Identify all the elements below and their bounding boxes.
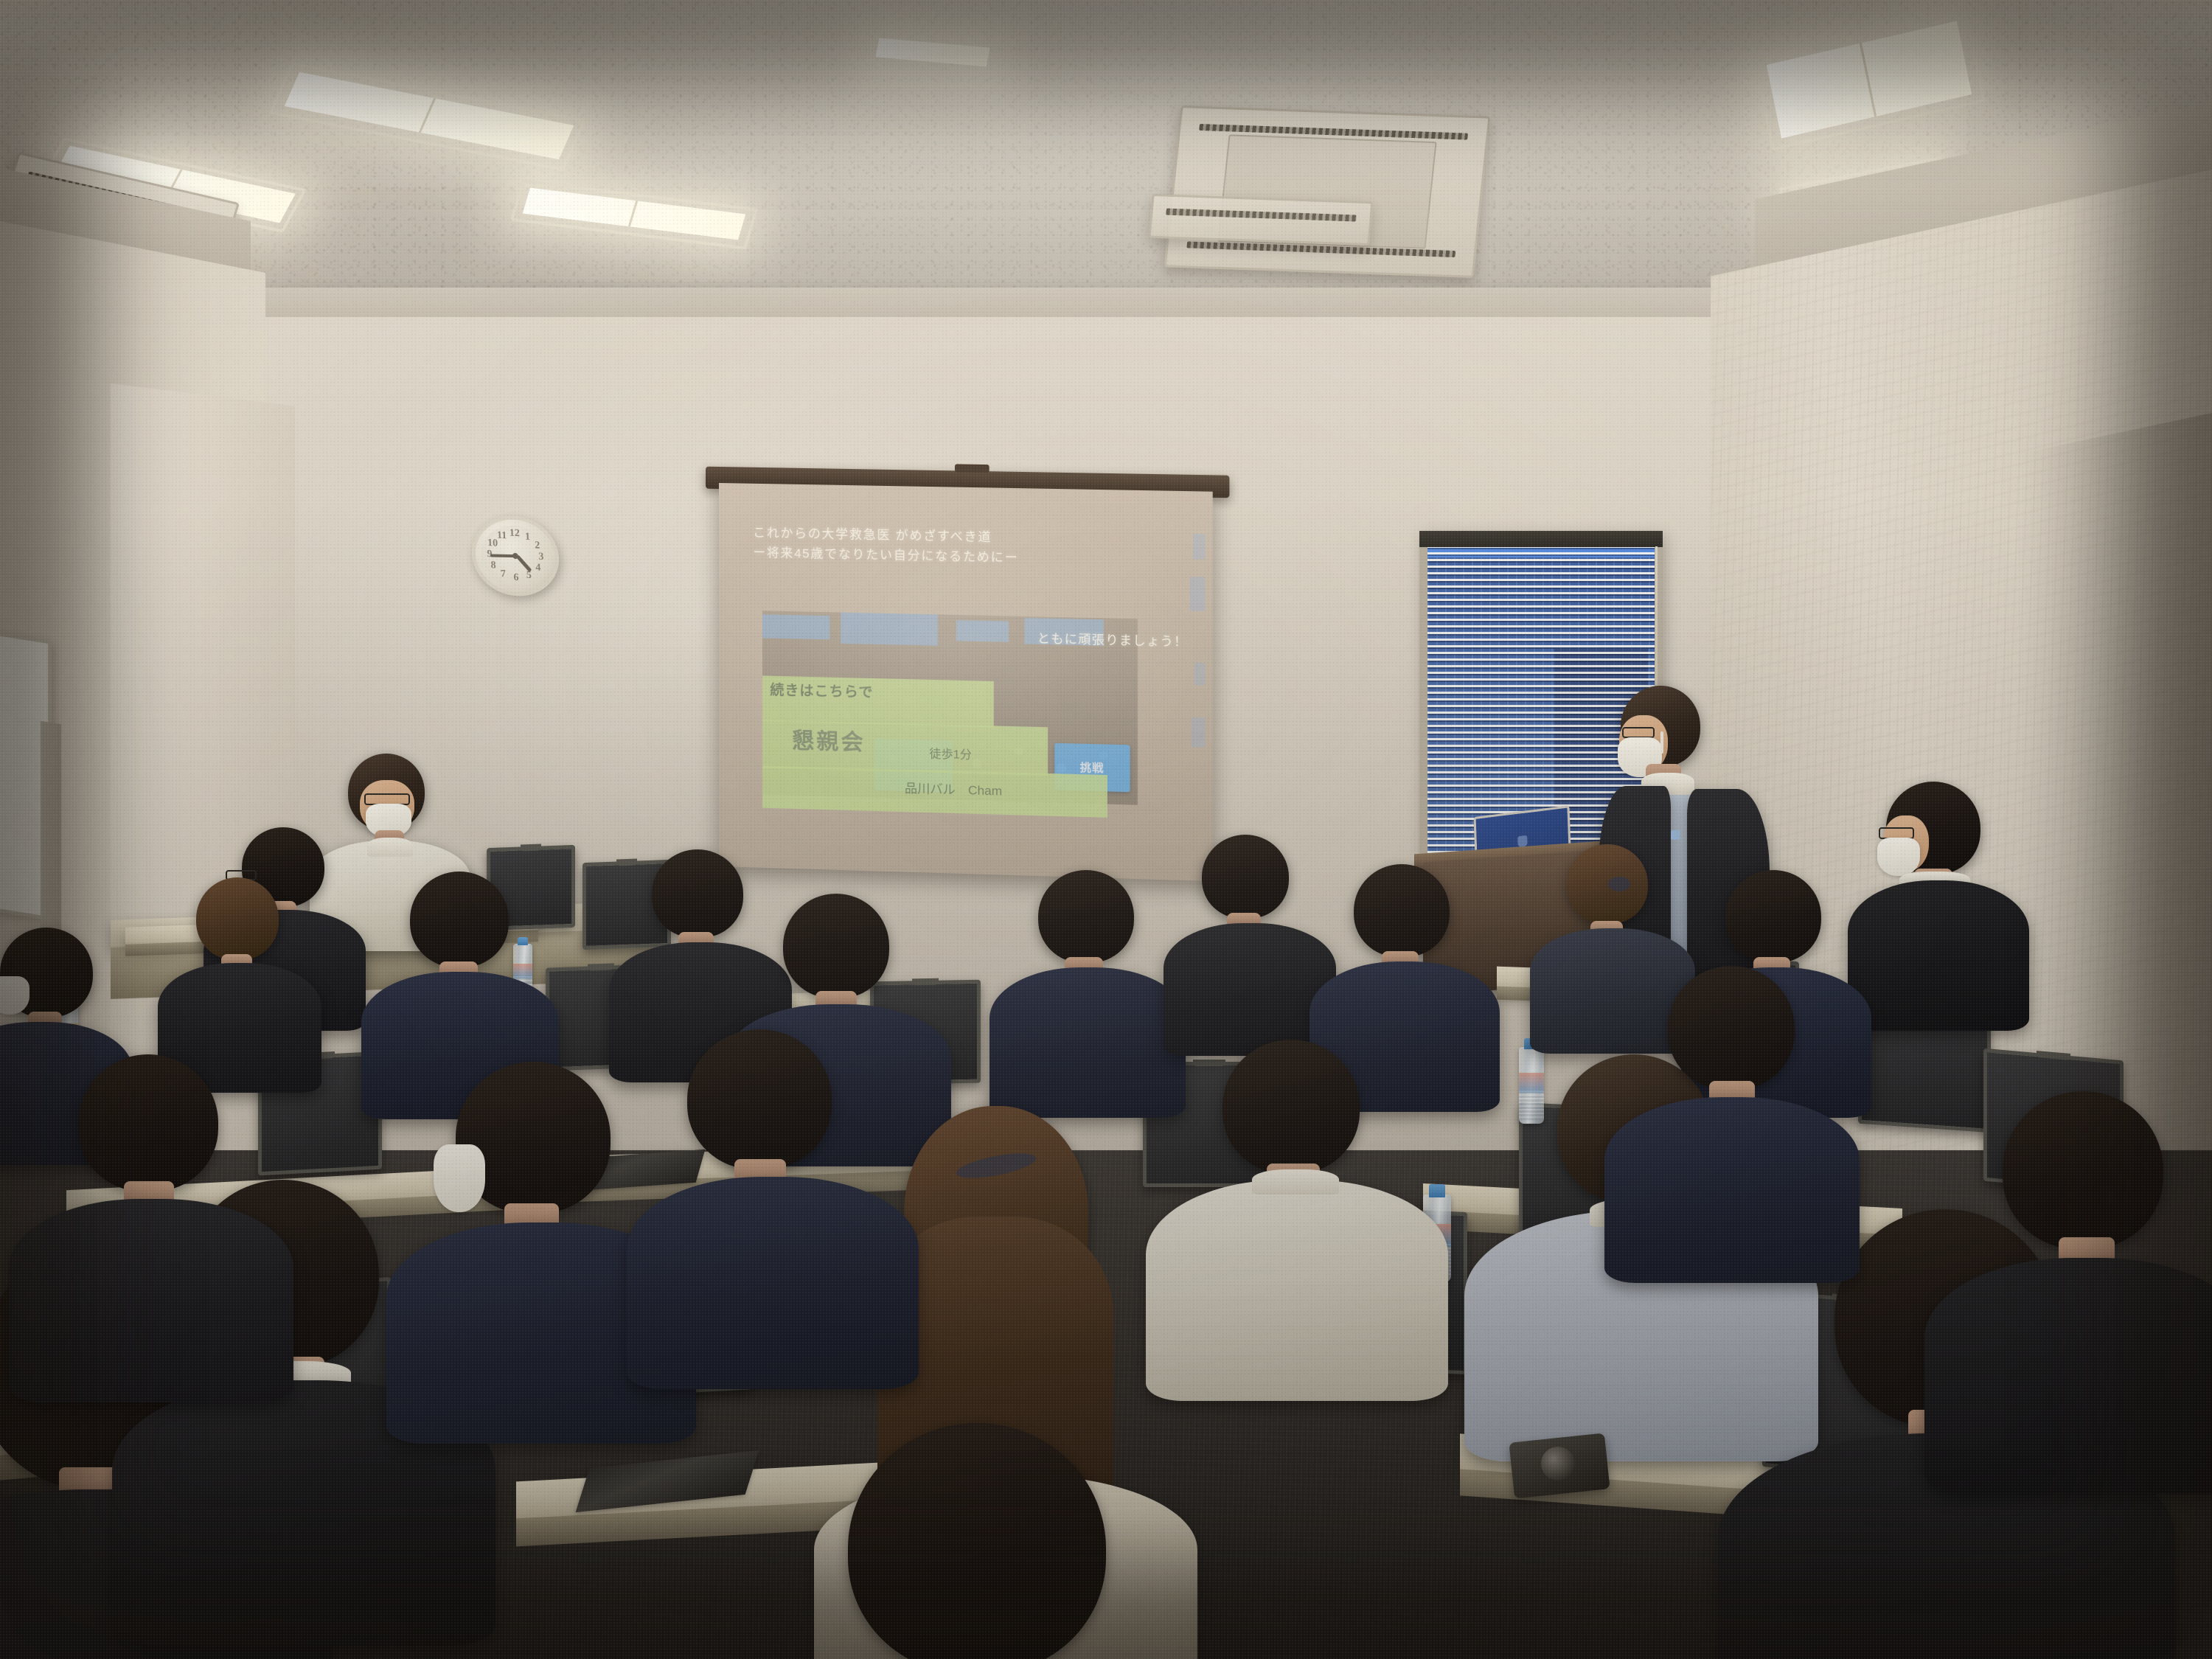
photo-banner-top [841,612,938,646]
head [2003,1091,2163,1249]
head [1668,966,1795,1090]
screen-reflection [1190,577,1206,611]
slide-highlight-box-3 [762,766,1107,818]
head [1222,1040,1360,1174]
hair-tie [1608,877,1630,891]
clock-number: 8 [490,560,496,571]
lapel-pin [1671,830,1680,840]
head [410,872,509,967]
shirt-collar [367,838,413,857]
slide-highlight-box-2 [762,720,1048,775]
slide-party-text: 懇親会 [792,723,866,757]
torso [1924,1258,2212,1494]
photo-flag-left [874,739,953,793]
head [652,849,743,938]
person-audience-mid-right [1622,966,1843,1246]
clock-number: 6 [513,572,519,584]
clock-number: 2 [535,540,540,552]
person-audience-right-suit [1843,782,2050,1025]
clock-number: 12 [509,527,521,540]
person-audience [1003,870,1172,1091]
slide-cheer-text: ともに頑張りましょう！ [1037,628,1188,650]
clock-number: 1 [525,531,531,543]
shirt-collar [1252,1169,1339,1194]
clock-hour-hand [516,555,532,572]
person-audience [376,872,553,1093]
head [1567,844,1648,924]
screen-reflection [1192,717,1206,747]
torso [627,1177,919,1389]
person-audience-far-right-lower [1947,1091,2212,1438]
blinds-headrail[interactable] [1419,531,1663,547]
slide-title-line2: ー将来45歳でなりたい自分になるためにー [753,544,1178,571]
person-audience [1172,835,1327,1034]
glasses [1622,727,1655,738]
head [196,877,279,960]
slide-venue-name: 品川バル Cham [905,777,1002,799]
clock-center-pin [512,553,518,559]
head [1038,870,1134,963]
mask-earloop [1660,731,1663,754]
screen-reflection [1194,663,1205,686]
slide-highlight-box-1 [762,675,993,727]
photo-banner-top [956,620,1009,641]
slide-continue-text: 続きはこちらで [770,679,873,701]
conference-room-scene: 12 1 2 3 4 5 6 7 8 9 10 11 [0,0,2212,1659]
clock-face: 12 1 2 3 4 5 6 7 8 9 10 11 [481,524,551,588]
torso [990,967,1186,1118]
clock-number: 11 [497,529,507,542]
person-audience [171,877,319,1062]
photo-banner-top [1024,618,1104,646]
face-mask [434,1144,485,1212]
torso [1848,880,2029,1031]
head [848,1423,1106,1659]
person-audience-white-shirt [1165,1040,1430,1386]
screen-surface: これからの大学救急医 がめざすべき道 ー将来45歳でなりたい自分になるためにー … [719,483,1213,881]
slide-walk-time: 徒歩1分 [929,743,972,762]
ac-cassette-2 [1164,105,1490,278]
head [1725,870,1821,963]
head [1354,864,1450,957]
whiteboard-edge [41,721,61,945]
slide-title-line1: これからの大学救急医 がめざすべき道 [753,524,1178,550]
person-foreground-center-2 [649,1029,900,1346]
torso [9,1199,293,1402]
head [783,894,889,998]
photo-crowd [866,701,1130,804]
clock-number: 4 [535,562,541,574]
head [687,1029,832,1169]
photo-flag-right: 挑戦 [1054,743,1130,792]
projection-screen: これからの大学救急医 がめざすべき道 ー将来45歳でなりたい自分になるためにー … [719,483,1213,881]
face-mask [1877,838,1920,876]
ac-cassette-3 [1148,194,1373,246]
laptop-logo [1517,835,1528,847]
screen-reflection [1193,534,1205,560]
clock-number: 7 [501,568,507,580]
head [78,1054,218,1192]
head [1202,835,1289,919]
torso [1604,1097,1860,1283]
photo-banner-top [762,614,829,640]
torso [1146,1180,1448,1401]
person-audience-left-mid [29,1054,273,1364]
person-foreground-bottom-right [767,1423,1180,1659]
slide-photo: 挑戦 [762,611,1137,805]
slide-title: これからの大学救急医 がめざすべき道 ー将来45歳でなりたい自分になるためにー [753,524,1178,571]
